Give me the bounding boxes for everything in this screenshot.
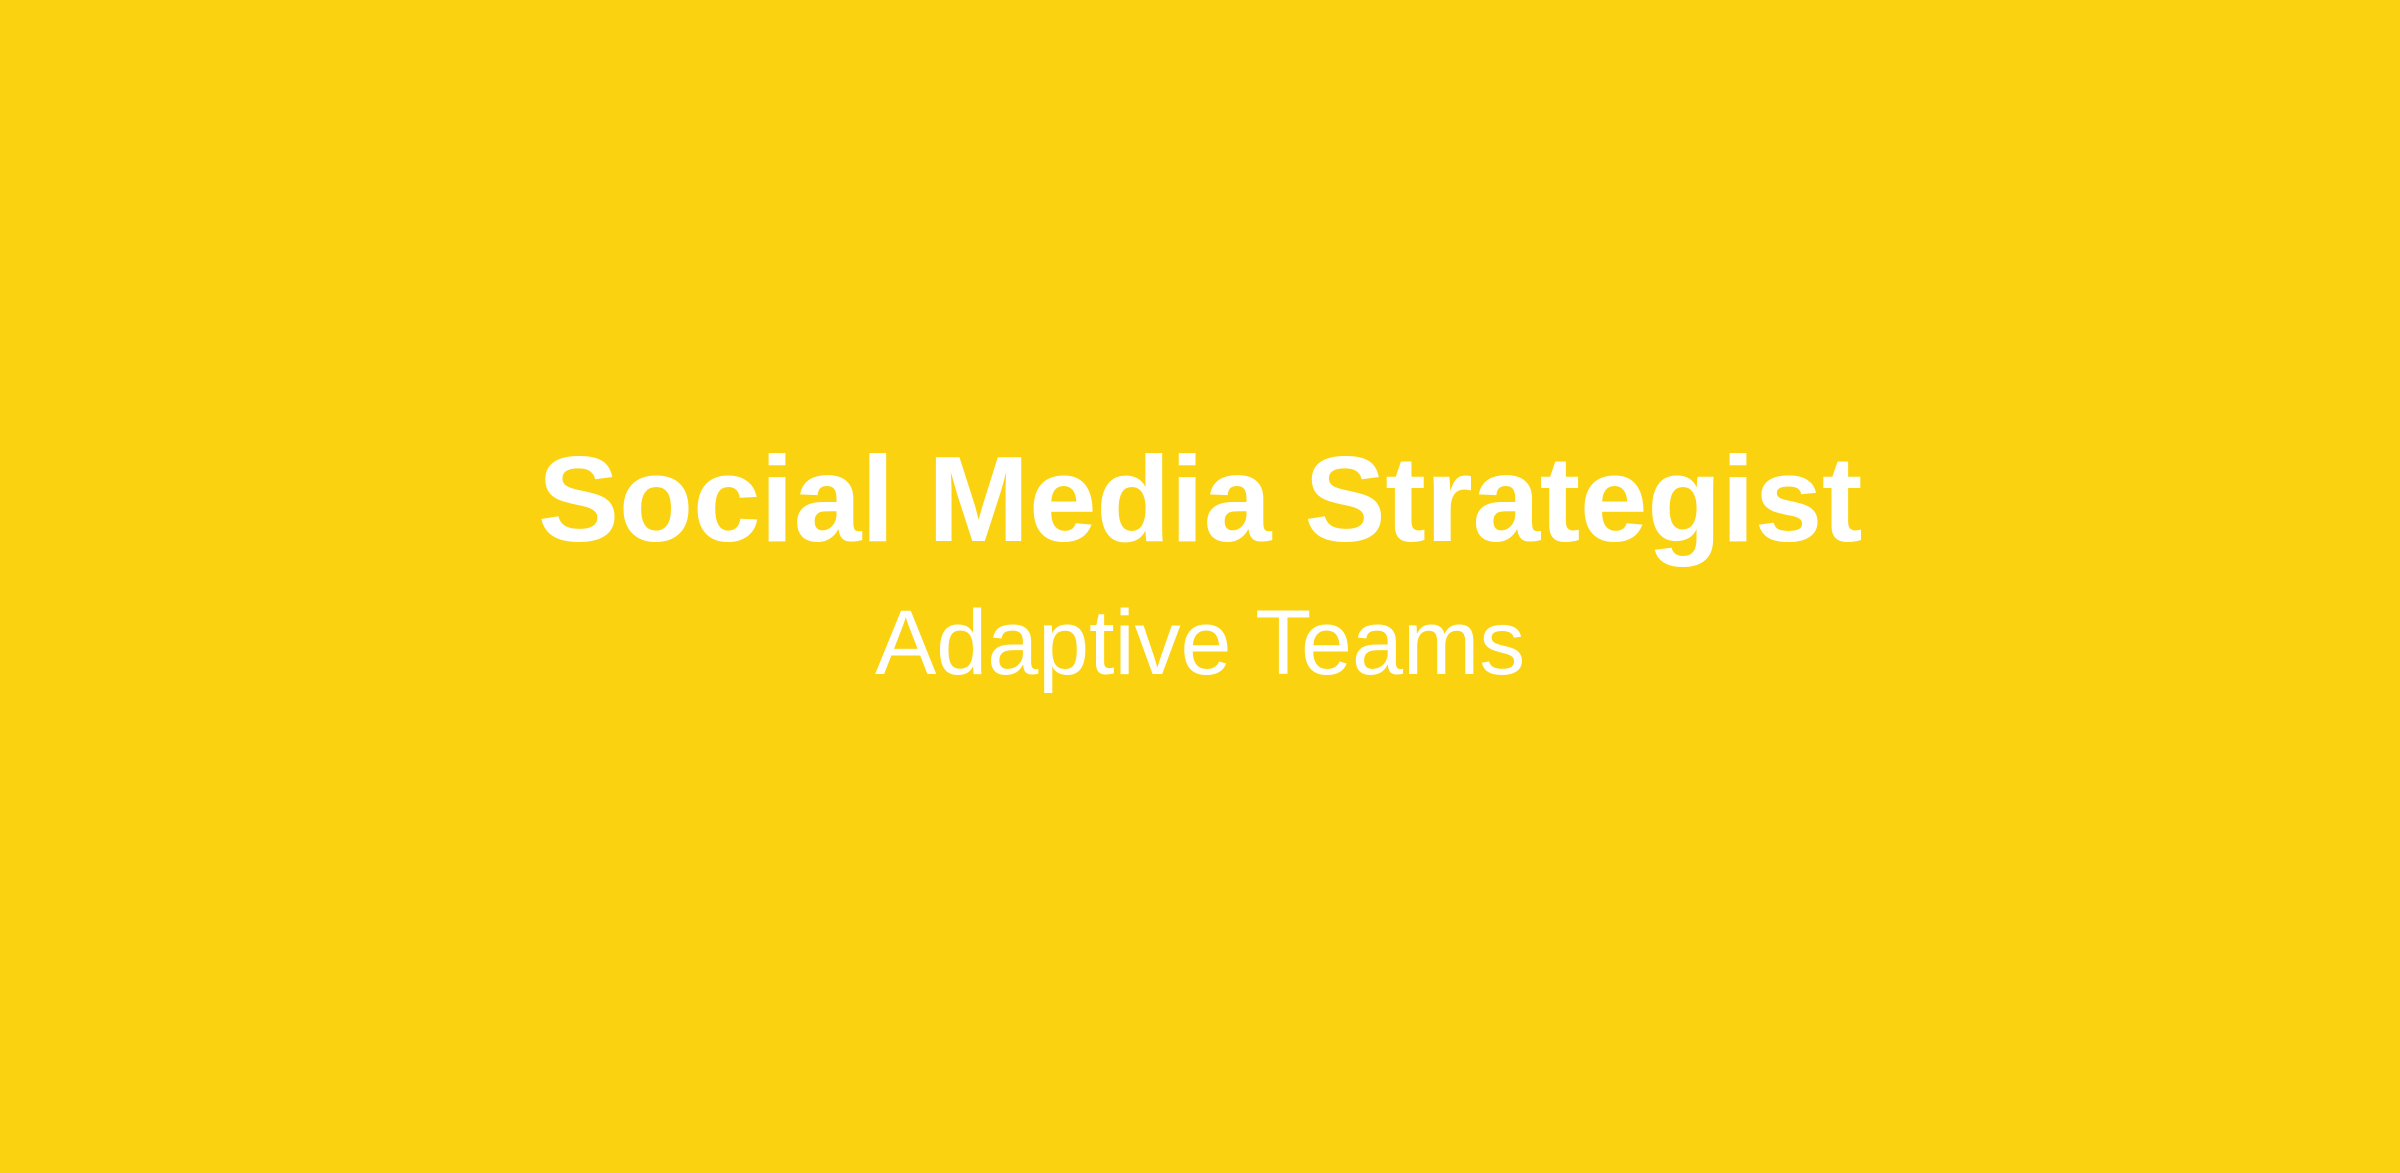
title-block: Social Media Strategist Adaptive Teams [0,438,2400,689]
page-title: Social Media Strategist [538,438,1862,560]
title-card-slide: Social Media Strategist Adaptive Teams [0,0,2400,1173]
page-subtitle: Adaptive Teams [875,597,1525,689]
